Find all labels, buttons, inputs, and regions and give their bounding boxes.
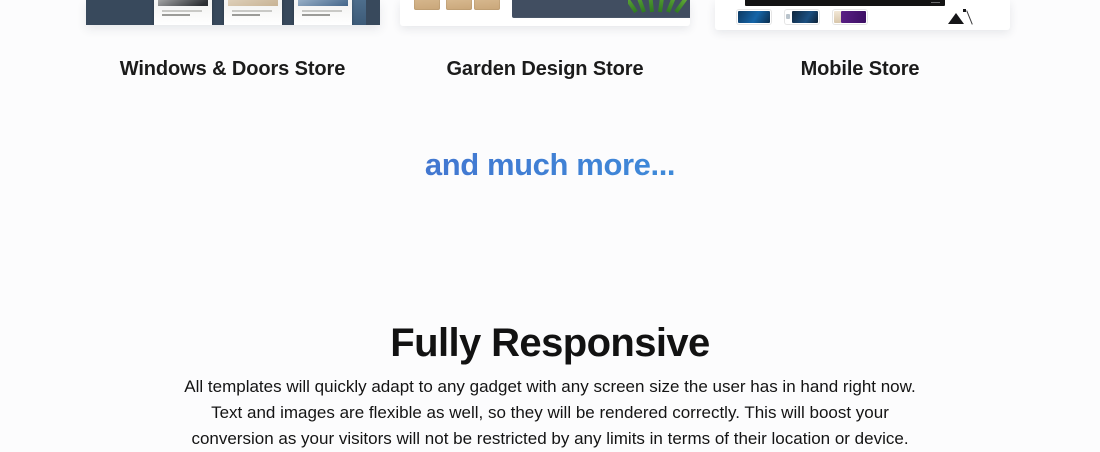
- section-paragraph: All templates will quickly adapt to any …: [150, 374, 950, 452]
- mountain-image-icon: [946, 9, 968, 26]
- product-tile: [154, 0, 212, 25]
- mobile-store-thumbnail[interactable]: [715, 0, 1010, 30]
- wooden-product: [414, 0, 440, 10]
- plant-graphic: [628, 0, 688, 18]
- windows-doors-store-thumbnail[interactable]: [86, 0, 380, 25]
- wooden-product: [474, 0, 500, 10]
- triangle-shape: [948, 13, 964, 24]
- phone-thumbnail: [737, 10, 771, 24]
- garden-design-store-thumbnail[interactable]: [400, 0, 690, 26]
- product-caption: [162, 10, 202, 18]
- phone-thumbnail: [833, 10, 867, 24]
- thumbnail-hero-banner: [745, 0, 945, 6]
- template-card-label: Garden Design Store: [390, 58, 700, 81]
- product-caption: [302, 10, 342, 18]
- product-caption: [232, 10, 272, 18]
- wooden-product: [446, 0, 472, 10]
- template-card-garden-design[interactable]: Garden Design Store: [390, 0, 700, 26]
- product-tile: [224, 0, 282, 25]
- product-tile: [294, 0, 352, 25]
- wooden-products-group: [406, 0, 502, 18]
- template-card-label: Mobile Store: [705, 58, 1015, 81]
- paragraph-line: Text and images are flexible as well, so…: [150, 400, 950, 426]
- section-title-fully-responsive: Fully Responsive: [0, 321, 1100, 366]
- templates-strip: Windows & Doors Store Garden Design Stor…: [0, 0, 1100, 96]
- slash-shape: [966, 10, 973, 24]
- paragraph-line: All templates will quickly adapt to any …: [150, 374, 950, 400]
- template-card-mobile-store[interactable]: Mobile Store: [705, 0, 1015, 30]
- phone-thumbnail: [785, 10, 819, 24]
- and-much-more-text: and much more...: [0, 147, 1100, 183]
